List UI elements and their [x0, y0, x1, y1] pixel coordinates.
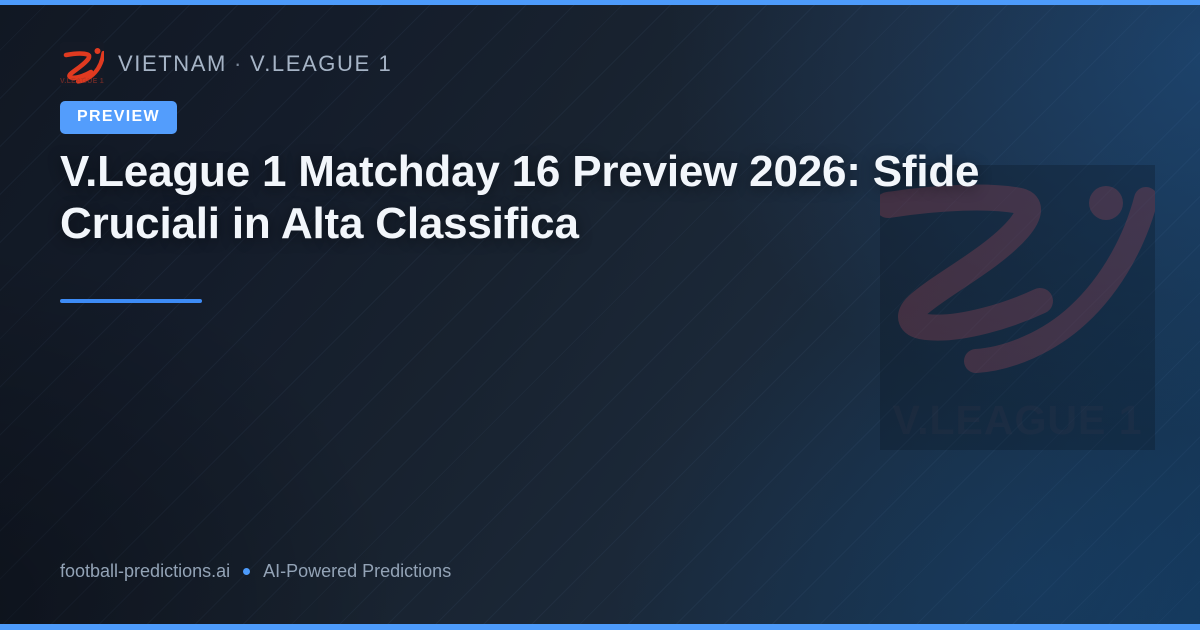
top-accent-bar [0, 0, 1200, 5]
league-meta-text: VIETNAM·V.LEAGUE 1 [118, 51, 392, 77]
status-badge: PREVIEW [60, 101, 177, 134]
watermark-label: V.LEAGUE 1 [880, 397, 1155, 444]
title-accent-rule [60, 299, 202, 303]
country-label: VIETNAM [118, 51, 227, 76]
page-title: V.League 1 Matchday 16 Preview 2026: Sfi… [60, 146, 1070, 250]
footer-site: football-predictions.ai [60, 561, 230, 582]
bottom-accent-bar [0, 624, 1200, 630]
league-logo-subtext: V.LEAGUE 1 [60, 78, 104, 85]
league-meta-row: V.LEAGUE 1 VIETNAM·V.LEAGUE 1 [60, 42, 392, 86]
footer-tagline: AI-Powered Predictions [263, 561, 451, 582]
league-logo: V.LEAGUE 1 [60, 42, 104, 86]
diagonal-stripe-texture [0, 0, 1200, 630]
meta-separator: · [234, 51, 243, 76]
footer: football-predictions.ai AI-Powered Predi… [60, 561, 451, 582]
logo-dot [1089, 186, 1123, 220]
og-share-card: V.LEAGUE 1 V.LEAGUE 1 VIETNAM·V.LEAGUE 1… [0, 0, 1200, 630]
competition-label: V.LEAGUE 1 [250, 51, 392, 76]
background-glow [0, 0, 1200, 630]
blue-dot-separator-icon [243, 568, 250, 575]
